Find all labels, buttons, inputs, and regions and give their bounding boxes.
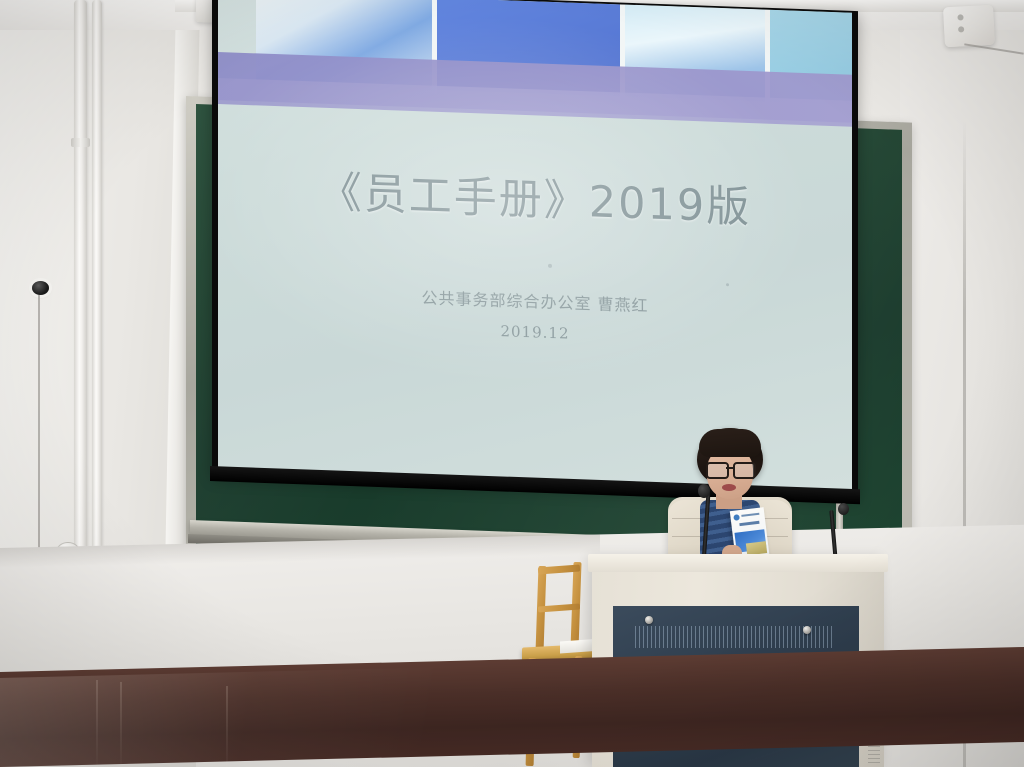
microphone-head: [698, 484, 710, 498]
booklet-logo-icon: [733, 514, 740, 521]
wall-junction-box: [943, 5, 995, 48]
classroom-photo-scene: 《员工手册》2019版 公共事务部综合办公室 曹燕红 2019.12: [0, 0, 1024, 767]
glasses-lens-left: [706, 462, 729, 479]
screen-speck: [726, 283, 729, 286]
wall-sensor: [32, 281, 49, 295]
booklet-header-text: [741, 513, 759, 517]
projection-screen: 《员工手册》2019版 公共事务部综合办公室 曹燕红 2019.12: [218, 0, 852, 491]
screen-speck: [548, 264, 552, 268]
floor-reflection-streak: [226, 686, 228, 767]
wallbox-screw: [957, 14, 963, 20]
glasses-bridge: [726, 467, 734, 469]
slide-banner: [218, 0, 852, 133]
microphone-head-secondary: [838, 503, 849, 515]
slide-title: 《员工手册》2019版: [218, 154, 852, 239]
pipe-joint-band: [71, 138, 90, 147]
wallbox-screw: [958, 26, 964, 32]
glasses-lens-right: [733, 462, 756, 479]
floor-reflection: [0, 663, 620, 767]
speaker-mouth: [722, 484, 736, 491]
floor-reflection-streak: [120, 682, 122, 767]
podium-screw: [803, 626, 811, 634]
speaker-hair-fringe: [699, 429, 761, 457]
sensor-wire: [38, 295, 40, 555]
booklet-title-text: [739, 521, 759, 526]
podium-top-surface: [588, 554, 888, 572]
floor-reflection-streak: [96, 680, 98, 767]
podium-screw: [645, 616, 653, 624]
